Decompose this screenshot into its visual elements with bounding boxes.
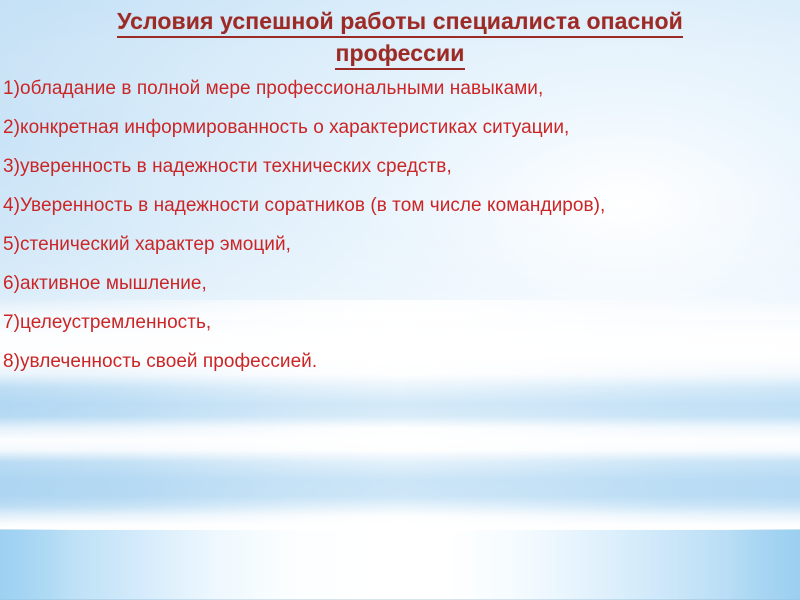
list-item: 8)увлеченность своей профессией. bbox=[0, 342, 800, 381]
slide-bullet-list: 1)обладание в полной мере профессиональн… bbox=[0, 69, 800, 381]
list-item: 2)конкретная информированность о характе… bbox=[0, 108, 800, 147]
list-item: 4)Уверенность в надежности соратников (в… bbox=[0, 186, 800, 225]
slide-content: Условия успешной работы специалиста опас… bbox=[0, 0, 800, 600]
presentation-slide: Условия успешной работы специалиста опас… bbox=[0, 0, 800, 600]
list-item: 7)целеустремленность, bbox=[0, 303, 800, 342]
list-item: 6)активное мышление, bbox=[0, 264, 800, 303]
list-item: 3)уверенность в надежности технических с… bbox=[0, 147, 800, 186]
slide-title-line-1: Условия успешной работы специалиста опас… bbox=[117, 6, 683, 38]
list-item: 1)обладание в полной мере профессиональн… bbox=[0, 69, 800, 108]
list-item: 5)стенический характер эмоций, bbox=[0, 225, 800, 264]
slide-title-line-2: профессии bbox=[335, 38, 464, 70]
slide-title: Условия успешной работы специалиста опас… bbox=[0, 6, 800, 70]
